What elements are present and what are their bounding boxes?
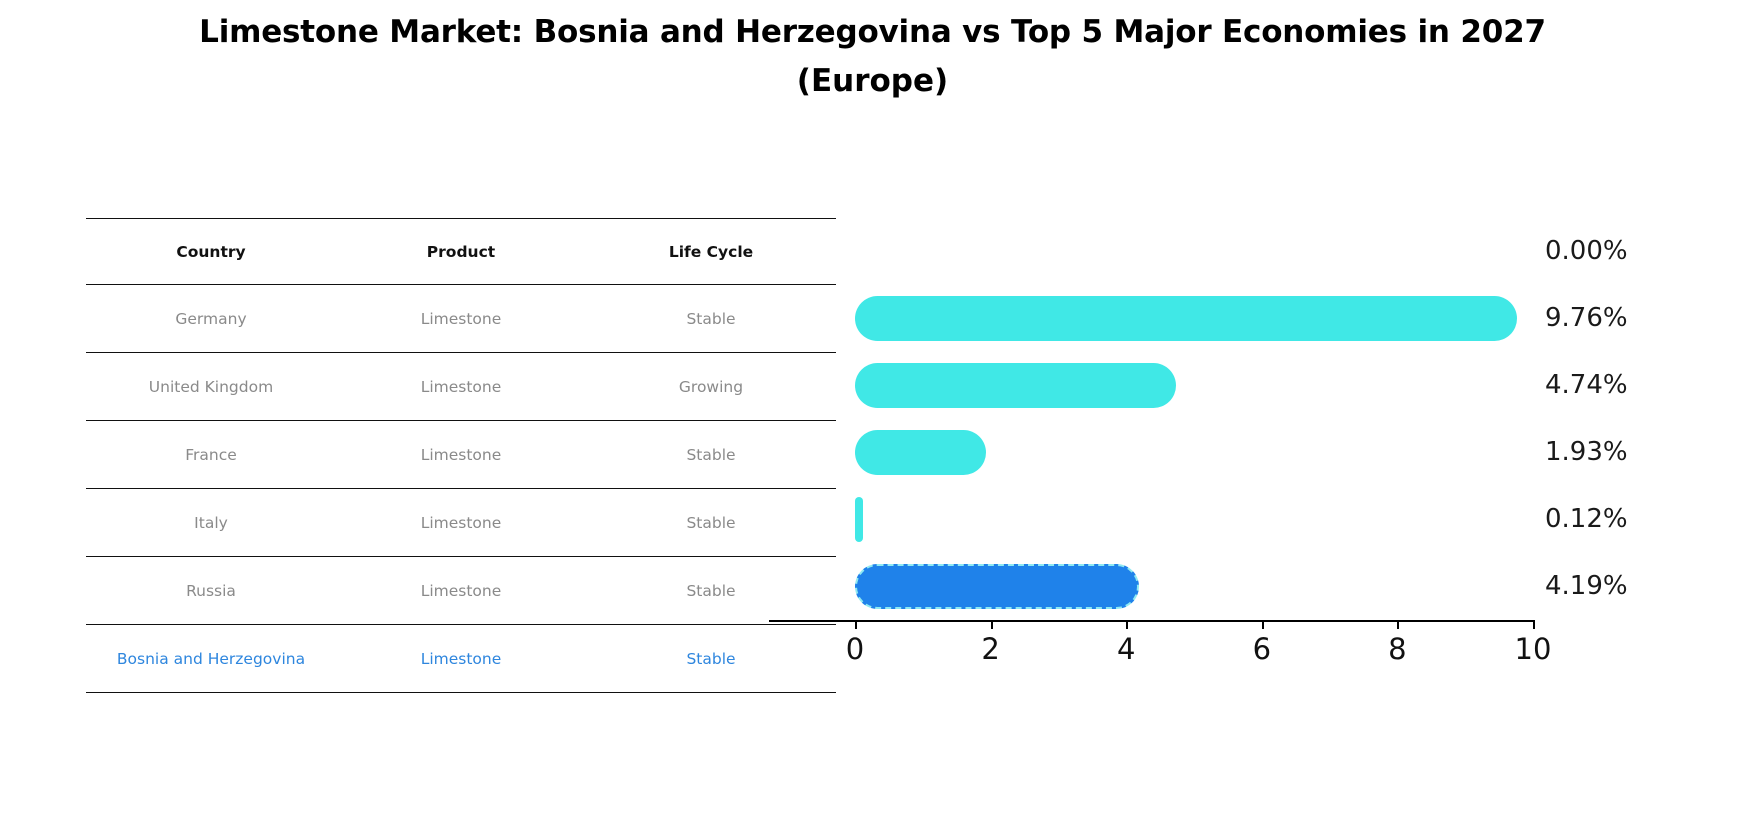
table-cell-life-cycle: Stable [586, 557, 836, 625]
country-table-panel: Country Product Life Cycle GermanyLimest… [86, 218, 836, 693]
x-axis-tick-label: 4 [1117, 632, 1135, 666]
table-header-product: Product [336, 219, 586, 285]
table-cell-product: Limestone [336, 421, 586, 489]
bar[interactable] [855, 497, 863, 542]
table-row: GermanyLimestoneStable [86, 285, 836, 353]
bar-value-label: 0.12% [1545, 486, 1628, 553]
table-cell-country: Germany [86, 285, 336, 353]
table-head: Country Product Life Cycle [86, 219, 836, 285]
country-table: Country Product Life Cycle GermanyLimest… [86, 218, 836, 693]
x-axis-tick [991, 620, 993, 629]
chart-title-block: Limestone Market: Bosnia and Herzegovina… [0, 8, 1745, 106]
x-axis-tick [1397, 620, 1399, 629]
x-axis-tick-label: 8 [1388, 632, 1406, 666]
bar-value-label: 4.19% [1545, 553, 1628, 620]
x-axis-line [769, 620, 1533, 622]
table-body: GermanyLimestoneStableUnited KingdomLime… [86, 285, 836, 693]
x-axis-tick-label: 6 [1253, 632, 1271, 666]
bar-highlighted[interactable] [855, 564, 1139, 609]
table-row: Bosnia and HerzegovinaLimestoneStable [86, 625, 836, 693]
table-cell-product: Limestone [336, 285, 586, 353]
table-cell-life-cycle: Stable [586, 421, 836, 489]
table-cell-life-cycle: Stable [586, 285, 836, 353]
table-cell-life-cycle: Growing [586, 353, 836, 421]
bar-value-label: 0.00% [1545, 218, 1628, 285]
bar[interactable] [855, 296, 1517, 341]
table-cell-life-cycle: Stable [586, 489, 836, 557]
x-axis: 0246810 [855, 620, 1533, 690]
x-axis-tick-label: 2 [981, 632, 999, 666]
bar-value-label: 9.76% [1545, 285, 1628, 352]
table-cell-product: Limestone [336, 489, 586, 557]
bar-value-label: 4.74% [1545, 352, 1628, 419]
x-axis-tick [1262, 620, 1264, 629]
table-cell-country: Russia [86, 557, 336, 625]
table-cell-country[interactable]: Bosnia and Herzegovina [86, 625, 336, 693]
bar-chart-panel: 0.00%9.76%4.74%1.93%0.12%4.19% 0246810 [855, 218, 1715, 718]
table-cell-country: United Kingdom [86, 353, 336, 421]
bar[interactable] [855, 363, 1176, 408]
x-axis-tick [1126, 620, 1128, 629]
table-row: RussiaLimestoneStable [86, 557, 836, 625]
x-axis-tick-label: 0 [846, 632, 864, 666]
table-header-country: Country [86, 219, 336, 285]
bar-row: 1.93% [855, 419, 1533, 486]
bar-row: 0.12% [855, 486, 1533, 553]
table-row: FranceLimestoneStable [86, 421, 836, 489]
plot-area: 0.00%9.76%4.74%1.93%0.12%4.19% [855, 218, 1533, 638]
bar-row: 4.74% [855, 352, 1533, 419]
chart-title-subtitle: (Europe) [0, 56, 1745, 106]
table-row: United KingdomLimestoneGrowing [86, 353, 836, 421]
table-header-row: Country Product Life Cycle [86, 219, 836, 285]
bar-row: 0.00% [855, 218, 1533, 285]
table-cell-product[interactable]: Limestone [336, 625, 586, 693]
bar-row: 4.19% [855, 553, 1533, 620]
table-cell-country: France [86, 421, 336, 489]
table-row: ItalyLimestoneStable [86, 489, 836, 557]
bar-row: 9.76% [855, 285, 1533, 352]
table-cell-product: Limestone [336, 557, 586, 625]
x-axis-tick [1533, 620, 1535, 629]
bar[interactable] [855, 430, 986, 475]
table-header-life-cycle: Life Cycle [586, 219, 836, 285]
x-axis-tick-label: 10 [1515, 632, 1552, 666]
table-cell-product: Limestone [336, 353, 586, 421]
chart-title-line-1: Limestone Market: Bosnia and Herzegovina… [0, 8, 1745, 56]
x-axis-tick [855, 620, 857, 629]
bar-value-label: 1.93% [1545, 419, 1628, 486]
table-cell-country: Italy [86, 489, 336, 557]
table-cell-life-cycle[interactable]: Stable [586, 625, 836, 693]
